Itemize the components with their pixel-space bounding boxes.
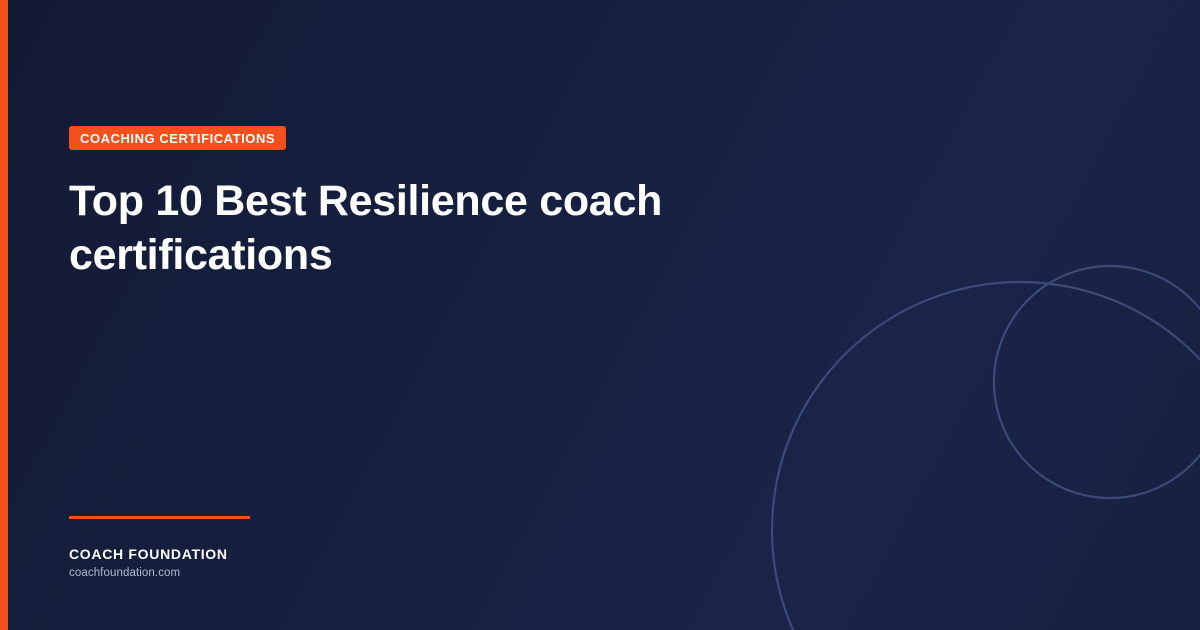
page-title: Top 10 Best Resilience coach certificati… — [69, 174, 709, 282]
brand-name: COACH FOUNDATION — [69, 546, 250, 563]
social-card: COACHING CERTIFICATIONS Top 10 Best Resi… — [0, 0, 1200, 630]
brand-url: coachfoundation.com — [69, 566, 250, 581]
category-badge-label: COACHING CERTIFICATIONS — [80, 131, 275, 146]
left-accent-bar — [0, 0, 8, 630]
footer-accent-rule — [69, 516, 250, 519]
card-content: COACHING CERTIFICATIONS Top 10 Best Resi… — [0, 0, 1200, 630]
footer-block: COACH FOUNDATION coachfoundation.com — [69, 516, 250, 581]
category-badge: COACHING CERTIFICATIONS — [69, 126, 286, 150]
